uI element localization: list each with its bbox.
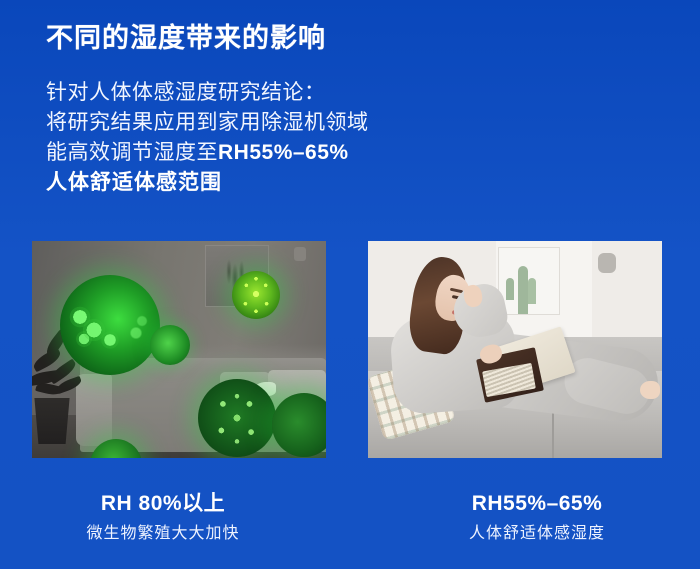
wall-speaker-icon	[598, 253, 616, 273]
intro-line-3: 能高效调节湿度至RH55%–65%	[46, 138, 369, 168]
cactus-arm-left-icon	[506, 278, 514, 300]
woman-foot	[640, 381, 660, 399]
caption-title-comfort-humidity: RH55%–65%	[374, 490, 700, 518]
caption-title-high-humidity: RH 80%以上	[0, 490, 326, 518]
intro-line-3-emphasis: RH55%–65%	[218, 141, 349, 164]
wall-speaker-icon	[294, 247, 306, 261]
page-title: 不同的湿度带来的影响	[46, 16, 326, 55]
intro-line-1: 针对人体体感湿度研究结论：	[46, 78, 369, 108]
microbe-sphere-large	[60, 275, 160, 375]
dim-room-scene	[32, 241, 326, 458]
microbe-sphere-top	[232, 271, 280, 319]
caption-comfort-humidity: RH55%–65% 人体舒适体感湿度	[352, 490, 700, 546]
cactus-arm-right-icon	[528, 278, 536, 304]
photo-comfort-humidity	[368, 241, 662, 458]
bright-room-scene	[368, 241, 662, 458]
caption-high-humidity: RH 80%以上 微生物繁殖大大加快	[0, 490, 352, 546]
photo-high-humidity	[32, 241, 326, 458]
caption-row: RH 80%以上 微生物繁殖大大加快 RH55%–65% 人体舒适体感湿度	[0, 490, 700, 546]
intro-paragraph: 针对人体体感湿度研究结论： 将研究结果应用到家用除湿机领域 能高效调节湿度至RH…	[46, 78, 369, 198]
caption-sub-high-humidity: 微生物繁殖大大加快	[0, 522, 326, 546]
intro-line-3-prefix: 能高效调节湿度至	[46, 141, 218, 164]
intro-line-4: 人体舒适体感范围	[46, 168, 369, 198]
intro-line-2: 将研究结果应用到家用除湿机领域	[46, 108, 369, 138]
cactus-icon	[518, 266, 528, 314]
caption-sub-comfort-humidity: 人体舒适体感湿度	[374, 522, 700, 546]
cactus-art-frame-icon	[498, 247, 560, 315]
poster-root: 不同的湿度带来的影响 针对人体体感湿度研究结论： 将研究结果应用到家用除湿机领域…	[0, 0, 700, 569]
microbe-sphere-bottom	[198, 379, 276, 457]
plant-pot	[32, 398, 72, 444]
microbe-sphere-small	[150, 325, 190, 365]
